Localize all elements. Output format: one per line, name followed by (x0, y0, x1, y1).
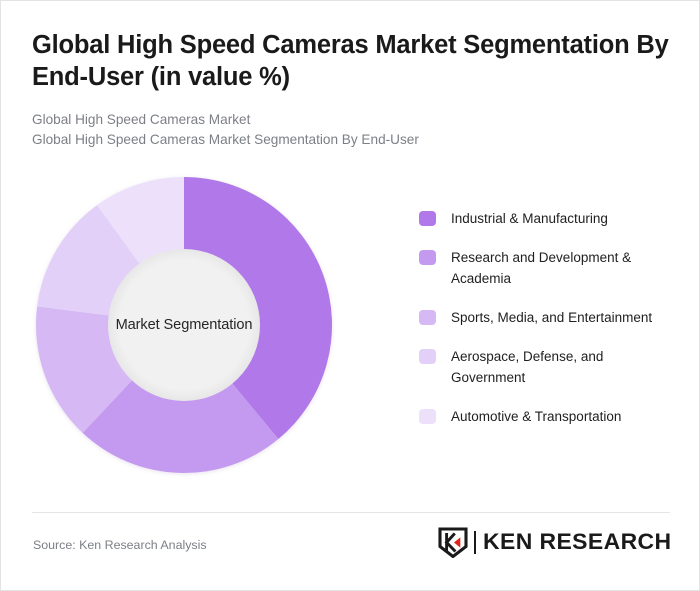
legend-item-label: Automotive & Transportation (451, 407, 621, 428)
source-note: Source: Ken Research Analysis (33, 538, 207, 552)
legend-item[interactable]: Research and Development & Academia (419, 248, 681, 290)
donut-chart-svg (32, 169, 336, 481)
donut-chart: Market Segmentation (32, 169, 336, 481)
legend-swatch-icon (419, 409, 436, 424)
brand-divider (474, 531, 476, 554)
legend-swatch-icon (419, 211, 436, 226)
legend-swatch-icon (419, 310, 436, 325)
chart-card: Global High Speed Cameras Market Segment… (0, 0, 700, 591)
chart-legend: Industrial & ManufacturingResearch and D… (419, 209, 681, 427)
footer-divider (32, 512, 670, 513)
brand-wordmark: KEN RESEARCH (483, 529, 672, 555)
donut-hole (108, 249, 260, 401)
page-title: Global High Speed Cameras Market Segment… (32, 29, 672, 93)
chart-header: Global High Speed Cameras Market Segment… (32, 29, 672, 149)
legend-item-label: Research and Development & Academia (451, 248, 681, 290)
legend-item-label: Aerospace, Defense, and Government (451, 347, 681, 389)
legend-item[interactable]: Sports, Media, and Entertainment (419, 308, 681, 329)
legend-item[interactable]: Automotive & Transportation (419, 407, 681, 428)
subtitle-line-1: Global High Speed Cameras Market (32, 110, 672, 129)
brand-logo: KEN RESEARCH (438, 527, 668, 557)
legend-item[interactable]: Industrial & Manufacturing (419, 209, 681, 230)
ken-research-shield-icon (438, 527, 468, 558)
legend-item[interactable]: Aerospace, Defense, and Government (419, 347, 681, 389)
legend-swatch-icon (419, 349, 436, 364)
subtitle-block: Global High Speed Cameras Market Global … (32, 110, 672, 149)
plot-area: Market Segmentation Industrial & Manufac… (1, 169, 700, 495)
subtitle-line-2: Global High Speed Cameras Market Segment… (32, 130, 672, 149)
legend-swatch-icon (419, 250, 436, 265)
legend-item-label: Industrial & Manufacturing (451, 209, 608, 230)
legend-item-label: Sports, Media, and Entertainment (451, 308, 652, 329)
